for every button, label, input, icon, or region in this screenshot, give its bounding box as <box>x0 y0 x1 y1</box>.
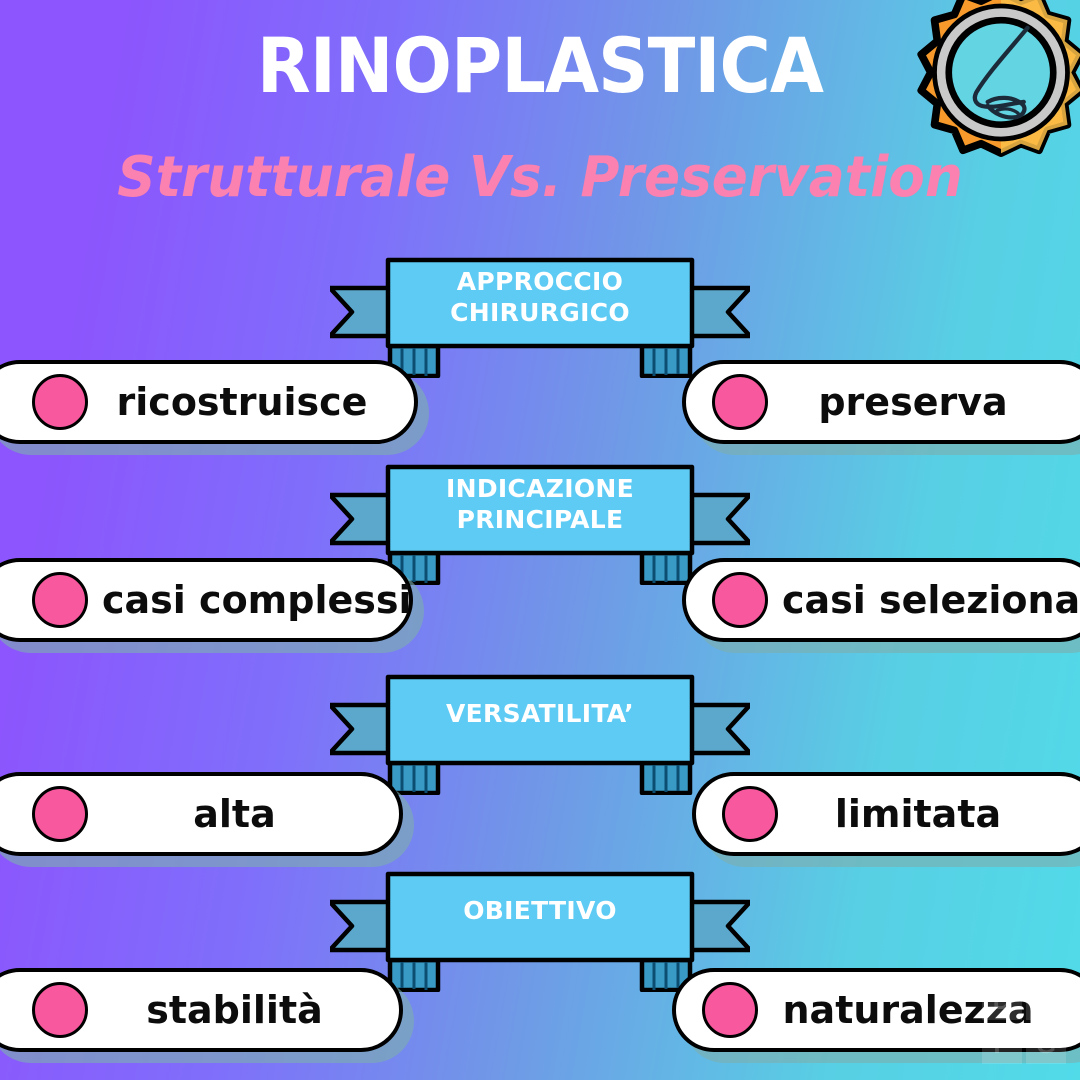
gear-nose-logo-icon <box>906 0 1080 176</box>
pill-row-3-right-label: limitata <box>778 795 1058 833</box>
pill-row-2-right-label: casi selezionati <box>768 581 1080 619</box>
pill-row-4-right-label: naturalezza <box>758 991 1058 1029</box>
pill-row-3-left[interactable]: alta <box>0 772 403 856</box>
bullet-dot-icon <box>32 982 88 1038</box>
ribbon-banner-3: VERSATILITA’ <box>330 665 750 795</box>
pill-row-1-right[interactable]: preserva <box>682 360 1080 444</box>
pill-row-3-left-label: alta <box>88 795 381 833</box>
pill-row-2-left[interactable]: casi complessi <box>0 558 413 642</box>
page-subtitle: Strutturale Vs. Preservation <box>27 150 1053 206</box>
page-title: RINOPLASTICA <box>43 28 1037 104</box>
pill-row-2-right[interactable]: casi selezionati <box>682 558 1080 642</box>
pill-row-4-left-label: stabilità <box>88 991 381 1029</box>
ribbon-banner-4: OBIETTIVO <box>330 862 750 992</box>
infographic-canvas: RINOPLASTICA Strutturale Vs. Preservatio… <box>0 0 1080 1080</box>
bullet-dot-icon <box>722 786 778 842</box>
bullet-dot-icon <box>712 572 768 628</box>
bullet-dot-icon <box>32 786 88 842</box>
pill-row-4-left[interactable]: stabilità <box>0 968 403 1052</box>
pill-row-4-right[interactable]: naturalezza <box>672 968 1080 1052</box>
bullet-dot-icon <box>702 982 758 1038</box>
ribbon-banner-1: APPROCCIO CHIRURGICO <box>330 248 750 378</box>
bullet-dot-icon <box>32 572 88 628</box>
pill-row-1-right-label: preserva <box>768 383 1058 421</box>
pill-row-3-right[interactable]: limitata <box>692 772 1080 856</box>
bullet-dot-icon <box>712 374 768 430</box>
pill-row-1-left-label: ricostruisce <box>88 383 396 421</box>
pill-row-2-left-label: casi complessi <box>88 581 426 619</box>
bullet-dot-icon <box>32 374 88 430</box>
pill-row-1-left[interactable]: ricostruisce <box>0 360 418 444</box>
